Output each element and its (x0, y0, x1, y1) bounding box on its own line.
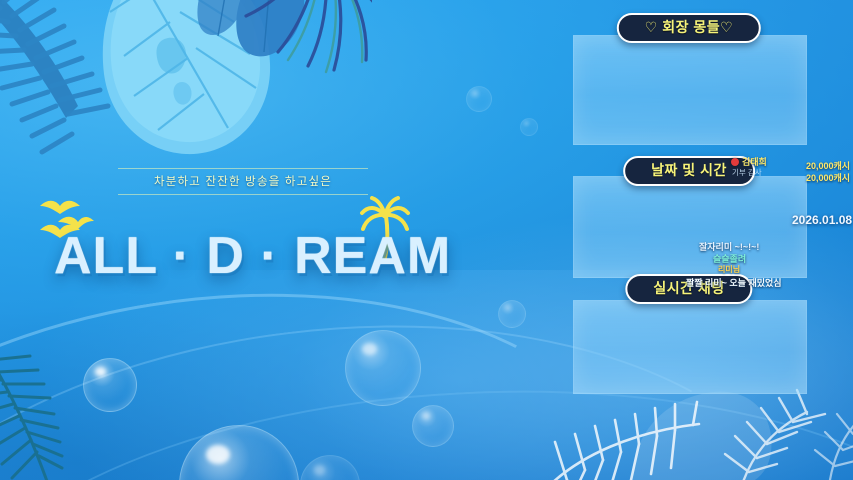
panel-datetime (573, 176, 807, 278)
bubble-decoration (466, 86, 492, 112)
pill-datetime-label: 날짜 및 시간 (651, 162, 727, 178)
panel-members (573, 35, 807, 145)
chat-message: 짤짤 리미~ 오늘 재밌었심 (686, 276, 782, 289)
panel-chat (573, 300, 807, 394)
cash-amount-2: 20,000캐시 (806, 171, 850, 184)
pill-members-label: ♡ 회장 몽들♡ (645, 19, 733, 35)
donation-dot-icon (731, 158, 739, 166)
donor-subtext: 기부 감사 (732, 167, 762, 178)
bubble-decoration (520, 118, 538, 136)
chat-message: 리미님 (718, 264, 740, 275)
bubble-decoration (498, 300, 526, 328)
bubble-decoration (345, 330, 421, 406)
tagline-text: 차분하고 잔잔한 방송을 하고싶은 (118, 169, 368, 194)
date-value: 2026.01.08 (792, 213, 852, 227)
pill-members[interactable]: ♡ 회장 몽들♡ (617, 13, 761, 43)
bubble-decoration (412, 405, 454, 447)
bubble-decoration (83, 358, 137, 412)
stream-overlay: 차분하고 잔잔한 방송을 하고싶은 ALL · D · REAM ♡ 회장 몽 (0, 0, 853, 480)
tagline-block: 차분하고 잔잔한 방송을 하고싶은 (118, 168, 368, 195)
page-title: ALL · D · REAM (54, 226, 451, 286)
tagline-rule-bottom (118, 194, 368, 195)
